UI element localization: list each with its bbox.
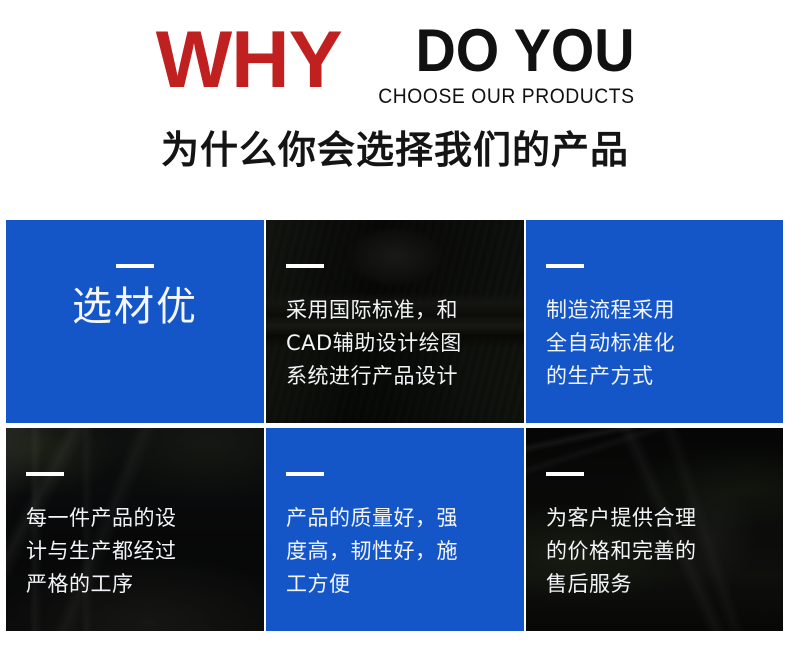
divider-dash-icon (286, 264, 324, 268)
page-subtitle: 为什么你会选择我们的产品 (0, 127, 790, 173)
headline-why: WHY (156, 18, 342, 102)
feature-cell-2: 采用国际标准，和 CAD辅助设计绘图 系统进行产品设计 (266, 220, 524, 423)
feature-cell-1: 选材优 (6, 220, 264, 423)
divider-dash-icon (546, 472, 584, 476)
divider-dash-icon (116, 264, 154, 268)
feature-cell-3: 制造流程采用 全自动标准化 的生产方式 (526, 220, 783, 423)
promo-banner: WHY DO YOU CHOOSE OUR PRODUCTS 为什么你会选择我们… (0, 0, 790, 665)
headline-do-you: DO YOU (415, 21, 634, 81)
feature-cell-4-content: 每一件产品的设 计与生产都经过 严格的工序 (6, 428, 264, 631)
feature-cell-6: 为客户提供合理 的价格和完善的 售后服务 (526, 428, 783, 631)
feature-cell-5-text: 产品的质量好，强 度高，韧性好，施 工方便 (286, 502, 458, 601)
divider-dash-icon (26, 472, 64, 476)
feature-cell-6-text: 为客户提供合理 的价格和完善的 售后服务 (546, 502, 697, 601)
feature-cell-4: 每一件产品的设 计与生产都经过 严格的工序 (6, 428, 264, 631)
feature-cell-2-content: 采用国际标准，和 CAD辅助设计绘图 系统进行产品设计 (266, 220, 524, 423)
feature-cell-4-text: 每一件产品的设 计与生产都经过 严格的工序 (26, 502, 177, 601)
banner-header: WHY DO YOU CHOOSE OUR PRODUCTS 为什么你会选择我们… (0, 0, 790, 200)
feature-cell-1-content: 选材优 (6, 220, 264, 423)
headline-tagline: CHOOSE OUR PRODUCTS (378, 85, 634, 109)
feature-cell-5: 产品的质量好，强 度高，韧性好，施 工方便 (266, 428, 524, 631)
divider-dash-icon (286, 472, 324, 476)
feature-cell-3-text: 制造流程采用 全自动标准化 的生产方式 (546, 294, 675, 393)
headline-row: WHY DO YOU CHOOSE OUR PRODUCTS (0, 18, 790, 102)
divider-dash-icon (546, 264, 584, 268)
feature-cell-2-text: 采用国际标准，和 CAD辅助设计绘图 系统进行产品设计 (286, 294, 462, 393)
feature-grid: 选材优 采用国际标准，和 CAD辅助设计绘图 系统进行产品设计 制造流程采用 全… (6, 220, 783, 635)
feature-cell-3-content: 制造流程采用 全自动标准化 的生产方式 (526, 220, 783, 423)
feature-cell-5-content: 产品的质量好，强 度高，韧性好，施 工方便 (266, 428, 524, 631)
feature-cell-1-text: 选材优 (72, 282, 198, 332)
headline-right-stack: DO YOU CHOOSE OUR PRODUCTS (356, 18, 635, 109)
feature-cell-6-content: 为客户提供合理 的价格和完善的 售后服务 (526, 428, 783, 631)
